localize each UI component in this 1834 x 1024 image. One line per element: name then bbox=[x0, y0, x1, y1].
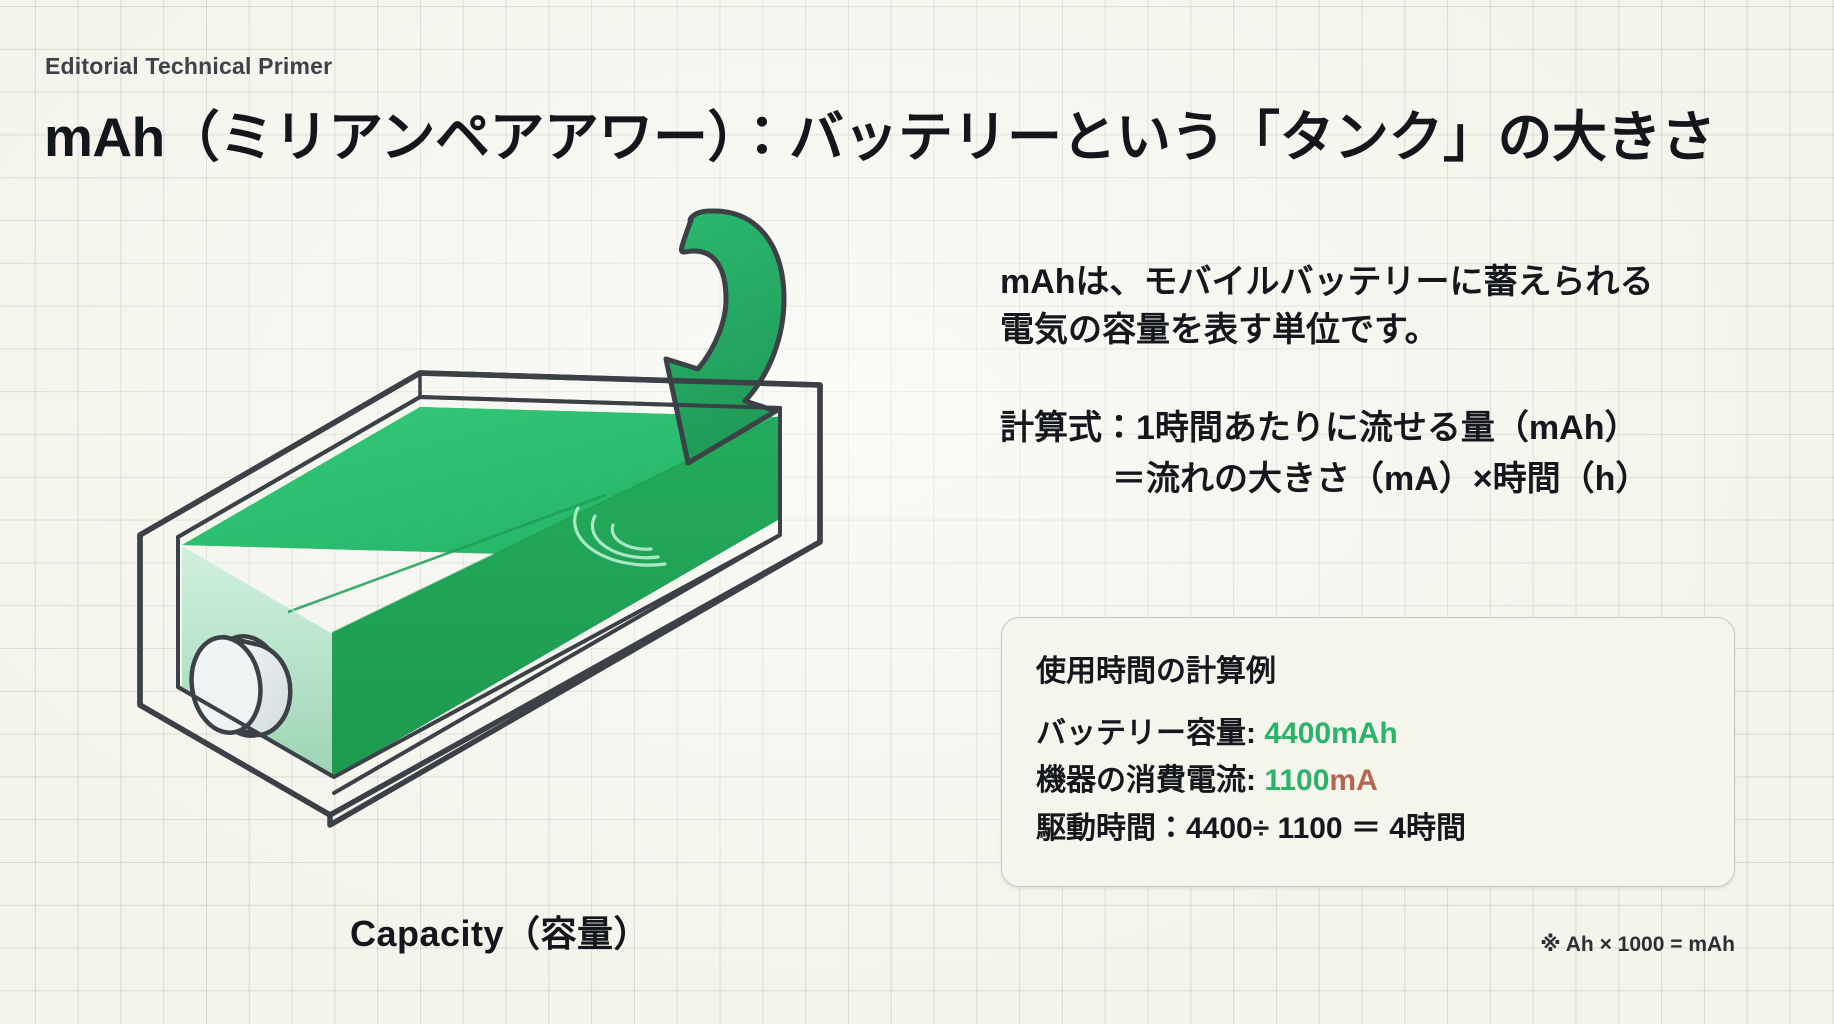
card-row-capacity: バッテリー容量: 4400mAh bbox=[1036, 710, 1700, 757]
calculation-example-card: 使用時間の計算例 バッテリー容量: 4400mAh 機器の消費電流: 1100m… bbox=[1001, 617, 1735, 887]
formula-line-2: ＝流れの大きさ（mA）×時間（h） bbox=[1000, 454, 1740, 505]
formula-block: 計算式：1時間あたりに流せる量（mAh） ＝流れの大きさ（mA）×時間（h） bbox=[1000, 403, 1740, 505]
card-row-current: 機器の消費電流: 1100mA bbox=[1036, 757, 1700, 804]
current-value-unit: mA bbox=[1329, 764, 1377, 797]
description-line-2: 電気の容量を表す単位です。 bbox=[1000, 306, 1740, 354]
slide-canvas: Editorial Technical Primer mAh（ミリアンペアアワー… bbox=[0, 0, 1834, 1024]
capacity-caption: Capacity（容量） bbox=[120, 905, 880, 957]
current-value-number: 1100 bbox=[1264, 764, 1329, 797]
capacity-value: 4400mAh bbox=[1264, 717, 1397, 750]
current-label: 機器の消費電流: bbox=[1036, 764, 1264, 797]
tank-illustration bbox=[120, 205, 880, 905]
description-line-1: mAhは、モバイルバッテリーに蓄えられる bbox=[1000, 258, 1740, 306]
explanation-column: mAhは、モバイルバッテリーに蓄えられる 電気の容量を表す単位です。 計算式：1… bbox=[1000, 258, 1740, 505]
eyebrow-label: Editorial Technical Primer bbox=[45, 53, 332, 80]
formula-line-1: 計算式：1時間あたりに流せる量（mAh） bbox=[1000, 403, 1740, 454]
capacity-label: バッテリー容量: bbox=[1036, 717, 1264, 750]
page-title: mAh（ミリアンペアアワー）：バッテリーという「タンク」の大きさ bbox=[44, 92, 1716, 172]
card-title: 使用時間の計算例 bbox=[1036, 646, 1700, 690]
card-row-runtime: 駆動時間：4400÷ 1100 ＝ 4時間 bbox=[1036, 805, 1700, 852]
footnote: ※ Ah × 1000 = mAh bbox=[1001, 932, 1735, 957]
